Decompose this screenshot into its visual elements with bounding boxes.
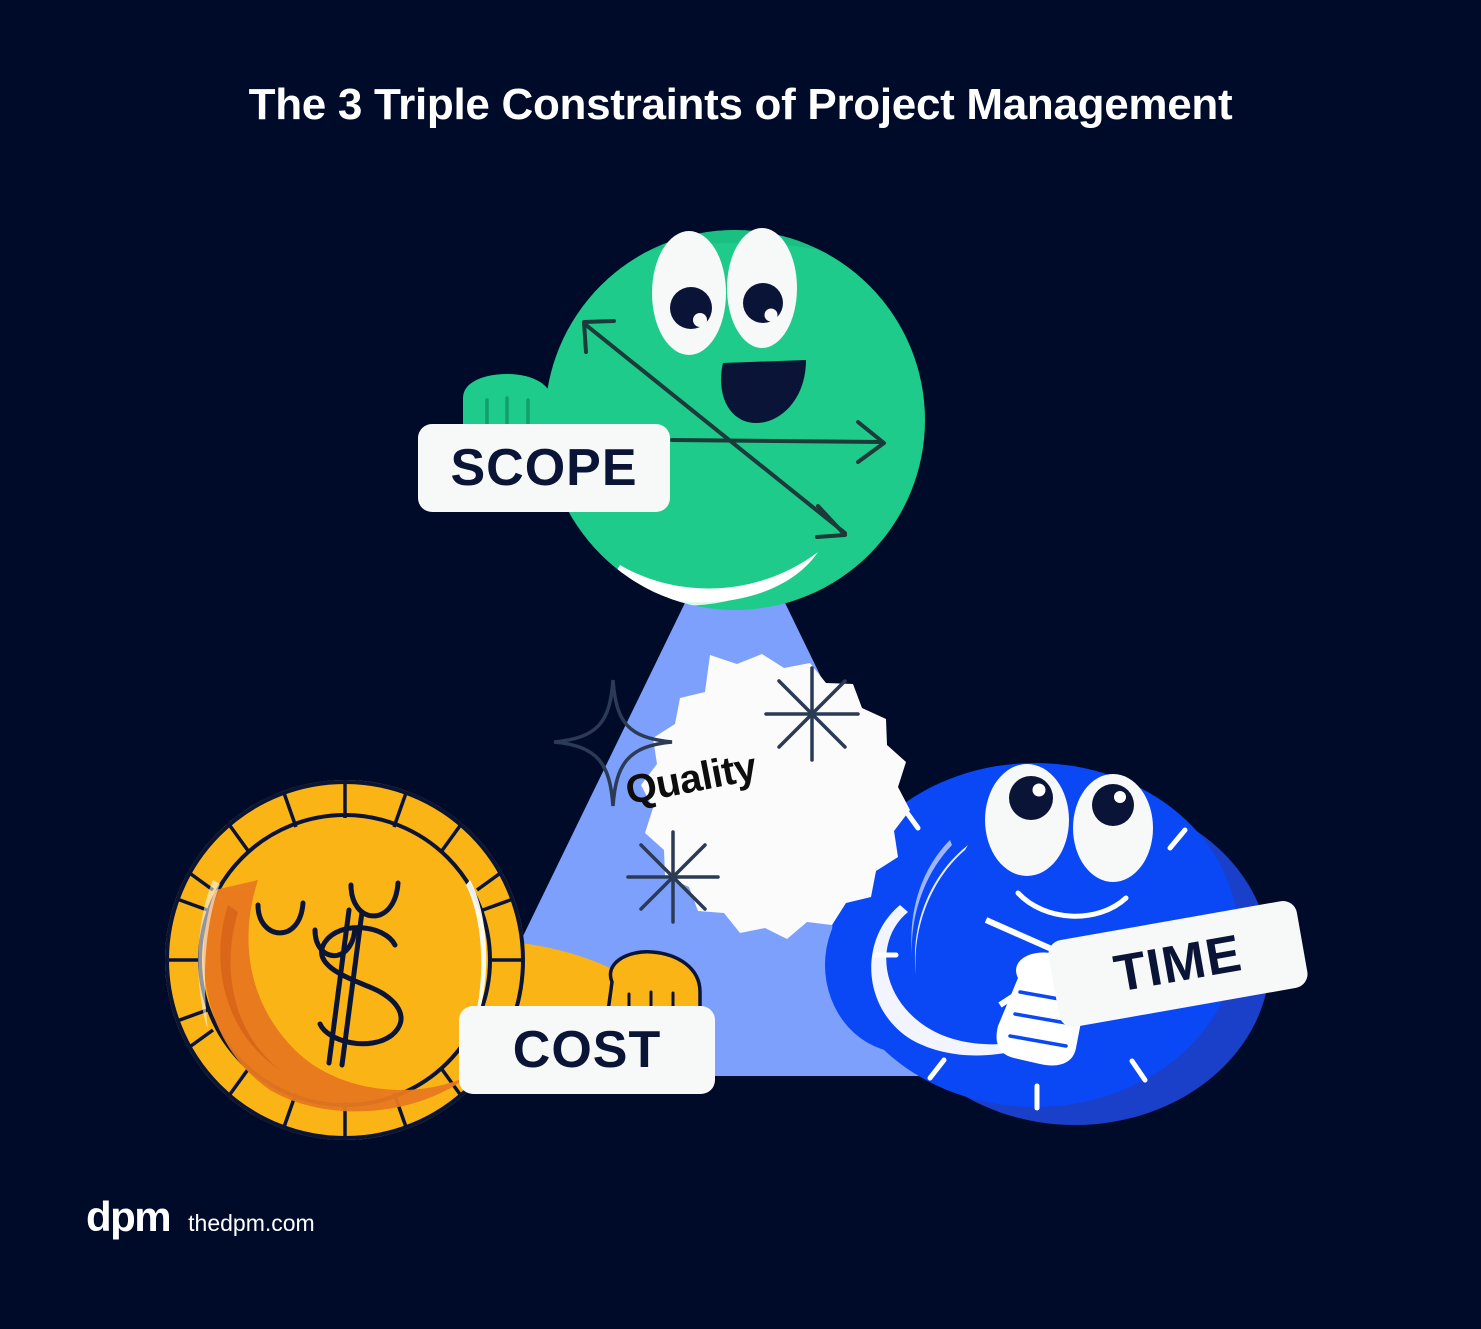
diagram-illustration: [0, 0, 1481, 1329]
scope-green-character: [463, 226, 925, 610]
footer-branding: dpm thedpm.com: [86, 1196, 315, 1238]
constraint-label-cost[interactable]: COST: [459, 1006, 715, 1094]
website-url: thedpm.com: [188, 1212, 315, 1235]
dpm-logo: dpm: [86, 1196, 170, 1238]
constraint-label-scope[interactable]: SCOPE: [418, 424, 670, 512]
infographic-canvas: The 3 Triple Constraints of Project Mana…: [0, 0, 1481, 1329]
